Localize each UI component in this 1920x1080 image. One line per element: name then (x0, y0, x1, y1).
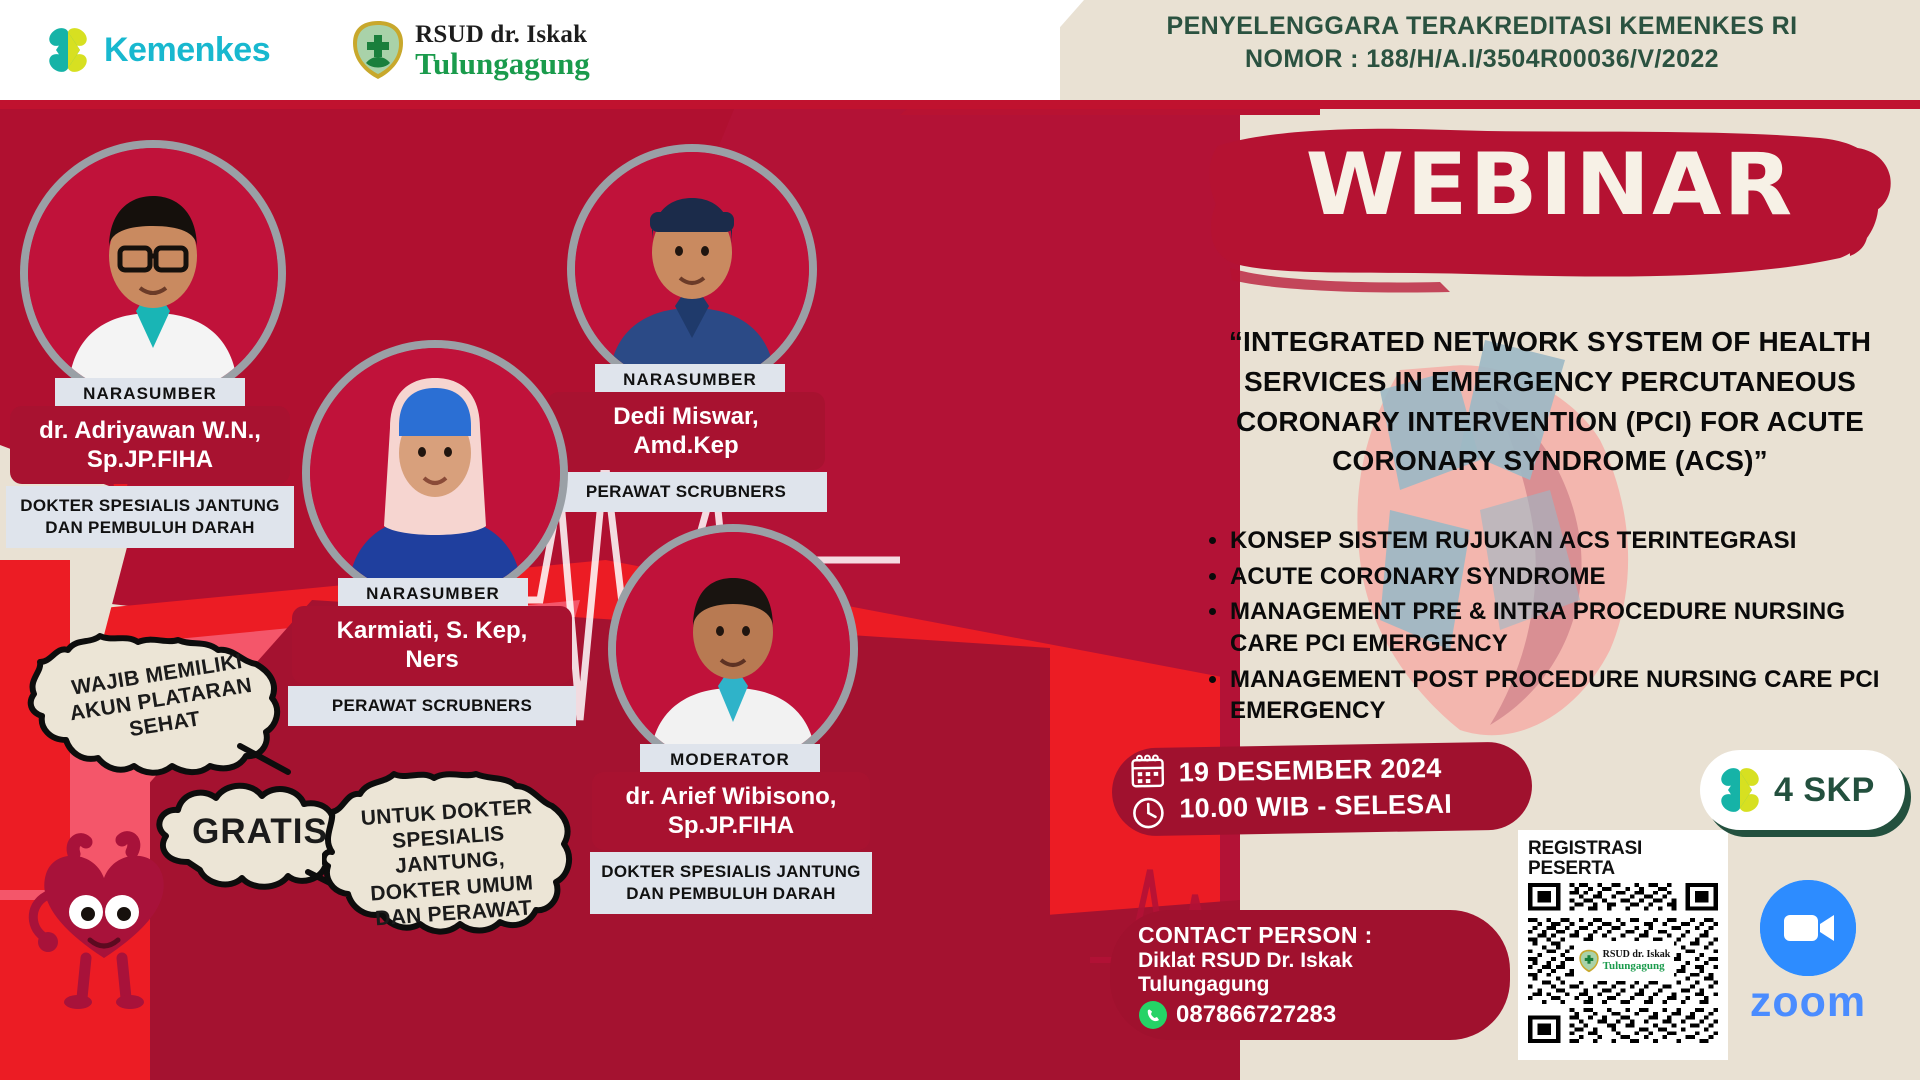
speaker-card-3: NARASUMBER Dedi Miswar, Amd.Kep PERAWAT … (545, 120, 835, 500)
zoom-platform-logo: zoom (1718, 880, 1898, 1027)
main-title-line-4: CORONARY SYNDROME (ACS)” (1195, 441, 1905, 481)
qr-code-image: RSUD dr. Iskak Tulungagung (1528, 883, 1718, 1043)
calendar-icon (1129, 753, 1166, 790)
speaker-2-avatar (310, 348, 560, 598)
topic-item: MANAGEMENT POST PROCEDURE NURSING CARE P… (1230, 664, 1920, 727)
webinar-main-title: “INTEGRATED NETWORK SYSTEM OF HEALTH SER… (1195, 322, 1905, 481)
clock-icon (1130, 795, 1167, 832)
heart-mascot (24, 820, 184, 1010)
speaker-2-name-line2: Ners (405, 645, 458, 674)
kemenkes-icon (1714, 764, 1766, 816)
contact-badge: CONTACT PERSON : Diklat RSUD Dr. Iskak T… (1110, 910, 1510, 1040)
speaker-1-avatar (28, 148, 278, 398)
qr-logo-line-2: Tulungagung (1603, 961, 1671, 973)
speaker-3-role-tag: NARASUMBER (595, 364, 785, 395)
zoom-camera-icon (1760, 880, 1856, 976)
speaker-card-4: MODERATOR dr. Arief Wibisono, Sp.JP.FIHA… (590, 500, 880, 880)
speaker-4-job-line2: DAN PEMBULUH DARAH (626, 883, 835, 905)
speaker-3-name-plate: Dedi Miswar, Amd.Kep (547, 392, 825, 470)
topic-item: ACUTE CORONARY SYNDROME (1230, 561, 1920, 593)
speaker-card-1: NARASUMBER dr. Adriyawan W.N., Sp.JP.FIH… (0, 110, 300, 490)
main-title-line-2: SERVICES IN EMERGENCY PERCUTANEOUS (1195, 362, 1905, 402)
accreditation-text: PENYELENGGARA TERAKREDITASI KEMENKES RI … (1072, 10, 1892, 76)
skp-label: 4 SKP (1774, 771, 1875, 810)
webinar-banner-title: WEBINAR (1186, 135, 1914, 235)
topic-item: KONSEP SISTEM RUJUKAN ACS TERINTEGRASI (1230, 525, 1920, 557)
schedule-icons (1129, 753, 1166, 832)
header-divider-line (0, 100, 1920, 109)
schedule-date: 19 DESEMBER 2024 (1178, 751, 1451, 791)
speaker-1-name-line2: Sp.JP.FIHA (87, 445, 213, 474)
speaker-3-avatar (575, 152, 809, 386)
qr-title-line-1: REGISTRASI (1528, 839, 1718, 859)
kemenkes-icon (42, 24, 94, 76)
accreditation-line-1: PENYELENGGARA TERAKREDITASI KEMENKES RI (1072, 10, 1892, 43)
contact-org-line-2: Tulungagung (1138, 973, 1490, 997)
rsud-seal-icon (350, 19, 406, 81)
speaker-1-job-line2: DAN PEMBULUH DARAH (45, 517, 254, 539)
topic-item: MANAGEMENT PRE & INTRA PROCEDURE NURSING… (1230, 596, 1920, 659)
speaker-4-job-line1: DOKTER SPESIALIS JANTUNG (601, 861, 860, 883)
speaker-2-name-line1: Karmiati, S. Kep, (337, 616, 528, 645)
whatsapp-icon (1138, 1000, 1168, 1030)
kemenkes-wordmark: Kemenkes (104, 31, 270, 70)
main-title-line-3: CORONARY INTERVENTION (PCI) FOR ACUTE (1195, 402, 1905, 442)
speaker-4-name-line1: dr. Arief Wibisono, (626, 782, 837, 811)
contact-phone-number: 087866727283 (1176, 1001, 1336, 1029)
main-title-line-1: “INTEGRATED NETWORK SYSTEM OF HEALTH (1195, 322, 1905, 362)
topics-list: KONSEP SISTEM RUJUKAN ACS TERINTEGRASI A… (1230, 525, 1920, 731)
schedule-text: 19 DESEMBER 2024 10.00 WIB - SELESAI (1178, 751, 1452, 827)
registration-qr-card[interactable]: REGISTRASI PESERTA (1518, 830, 1728, 1060)
rsud-wordmark: RSUD dr. Iskak Tulungagung (415, 22, 590, 79)
rsud-name-line2: Tulungagung (415, 48, 590, 79)
qr-logo-seal-icon (1578, 949, 1600, 973)
contact-heading: CONTACT PERSON : (1138, 922, 1490, 949)
zoom-wordmark: zoom (1718, 978, 1898, 1027)
speaker-4-avatar (616, 532, 850, 766)
speaker-4-name-line2: Sp.JP.FIHA (668, 811, 794, 840)
rsud-name-line1: RSUD dr. Iskak (415, 22, 590, 47)
speaker-1-job-line1: DOKTER SPESIALIS JANTUNG (20, 495, 279, 517)
header-logos: Kemenkes RSUD dr. Iskak Tulungagung (0, 0, 1000, 100)
speaker-4-job-bar: DOKTER SPESIALIS JANTUNG DAN PEMBULUH DA… (590, 852, 872, 914)
speaker-2-job-bar: PERAWAT SCRUBNERS (288, 686, 576, 726)
speaker-4-name-plate: dr. Arief Wibisono, Sp.JP.FIHA (592, 772, 870, 850)
qr-title-line-2: PESERTA (1528, 859, 1718, 879)
callout-audience-text: UNTUK DOKTER SPESIALIS JANTUNG, DOKTER U… (346, 793, 554, 933)
contact-org-line-1: Diklat RSUD Dr. Iskak (1138, 949, 1490, 973)
logo-rsud-iskak: RSUD dr. Iskak Tulungagung (350, 19, 590, 81)
speaker-1-name-plate: dr. Adriyawan W.N., Sp.JP.FIHA (10, 406, 290, 484)
logo-kemenkes: Kemenkes (42, 24, 270, 76)
speaker-card-2: NARASUMBER Karmiati, S. Kep, Ners PERAWA… (280, 310, 580, 690)
speaker-2-role-tag: NARASUMBER (338, 578, 528, 609)
speaker-1-role-tag: NARASUMBER (55, 378, 245, 409)
speaker-2-job-line1: PERAWAT SCRUBNERS (332, 695, 532, 717)
speaker-4-role-tag: MODERATOR (640, 744, 820, 775)
accreditation-line-2: NOMOR : 188/H/A.I/3504R00036/V/2022 (1072, 43, 1892, 76)
speaker-1-name-line1: dr. Adriyawan W.N., (39, 416, 261, 445)
speaker-3-name-line1: Dedi Miswar, (613, 402, 758, 431)
speaker-3-name-line2: Amd.Kep (633, 431, 738, 460)
contact-phone-row[interactable]: 087866727283 (1138, 1000, 1490, 1030)
speaker-2-name-plate: Karmiati, S. Kep, Ners (292, 606, 572, 684)
speaker-1-job-bar: DOKTER SPESIALIS JANTUNG DAN PEMBULUH DA… (6, 486, 294, 548)
schedule-time: 10.00 WIB - SELESAI (1179, 787, 1452, 827)
callout-price-text: GRATIS (160, 812, 360, 852)
skp-credit-badge: 4 SKP (1700, 750, 1905, 830)
qr-center-logo: RSUD dr. Iskak Tulungagung (1574, 941, 1674, 981)
schedule-badge: 19 DESEMBER 2024 10.00 WIB - SELESAI (1111, 741, 1532, 836)
webinar-poster: Kemenkes RSUD dr. Iskak Tulungagung PENY… (0, 0, 1920, 1080)
